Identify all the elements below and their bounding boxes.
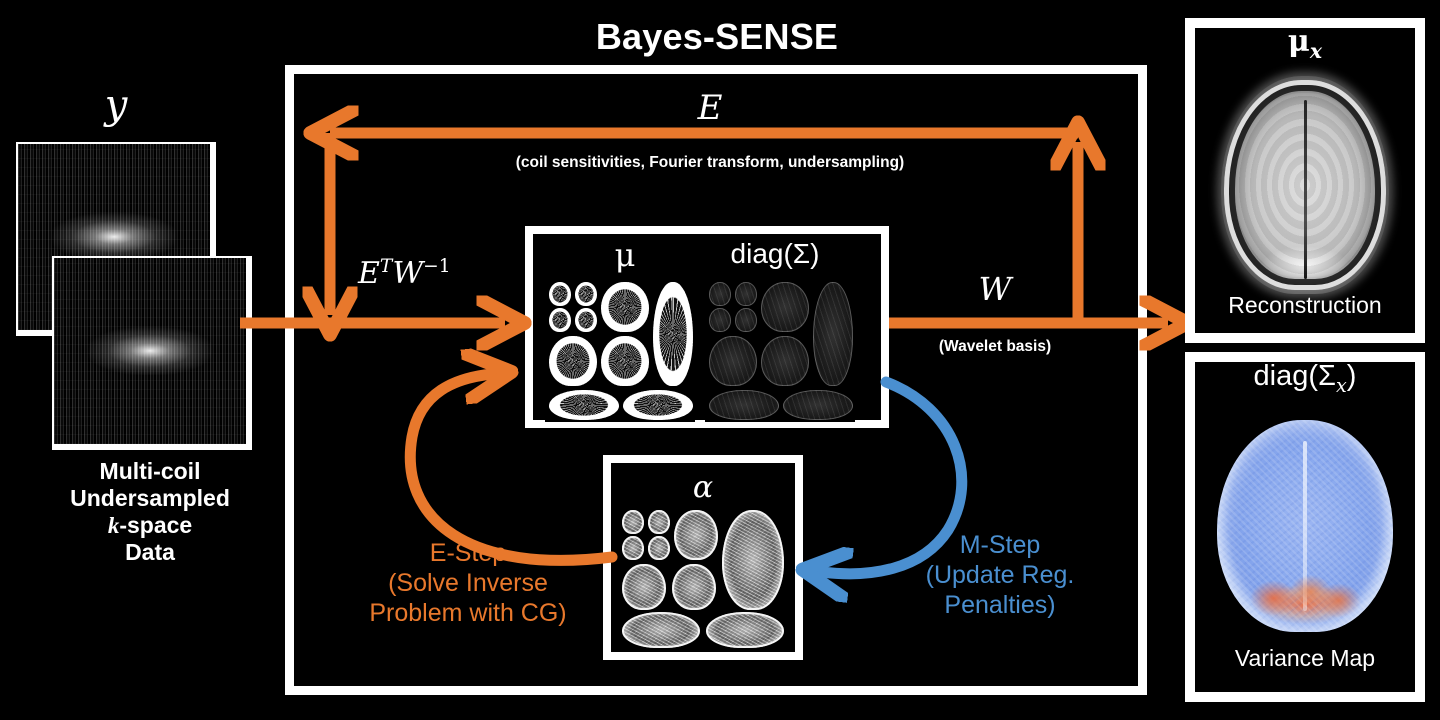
- figure-canvas: 𝑦 Multi-coil Undersampled k-space Data B…: [0, 0, 1440, 720]
- wavelet-speckle: [575, 308, 597, 332]
- wavelet-cell-alpha: [674, 510, 718, 560]
- kspace-center-glow: [89, 327, 212, 375]
- recon-symbol-mu: μ: [1288, 24, 1310, 59]
- wavelet-speckle: [549, 336, 597, 386]
- wavelet-cell-alpha: [648, 536, 670, 560]
- kspace-tile-front-frame: [52, 256, 252, 450]
- kspace-caption-k-italic: k: [108, 513, 120, 538]
- kspace-caption-line-1: Multi-coil: [24, 458, 276, 485]
- wavelet-speckle: [653, 282, 693, 386]
- wavelet-speckle: [549, 308, 571, 332]
- wavelet-cell-sigma: [735, 308, 757, 332]
- wavelet-cell-sigma: [761, 336, 809, 386]
- variance-symbol-prefix: diag(Σ: [1254, 360, 1336, 392]
- wavelet-cell-mu: [601, 336, 649, 386]
- wavelet-speckle: [735, 308, 757, 332]
- forward-operator-description: (coil sensitivities, Fourier transform, …: [430, 154, 990, 172]
- wavelet-speckle: [709, 282, 731, 306]
- wavelet-cell-alpha: [622, 536, 644, 560]
- wavelet-panel-sigma: [705, 278, 855, 422]
- wavelet-speckle: [549, 282, 571, 306]
- figure-title: Bayes-SENSE: [288, 16, 1146, 58]
- wavelet-speckle: [622, 564, 666, 610]
- adjoint-T: T: [380, 256, 392, 277]
- wavelet-cell-mu: [549, 308, 571, 332]
- wavelet-cell-mu: [549, 390, 619, 420]
- wavelet-cell-alpha: [706, 612, 784, 648]
- wavelet-speckle: [709, 308, 731, 332]
- wavelet-cell-mu: [623, 390, 693, 420]
- wavelet-cell-alpha: [622, 612, 700, 648]
- kspace-caption-line-3: k-space: [24, 512, 276, 539]
- wavelet-speckle: [761, 336, 809, 386]
- wavelet-cell-sigma: [709, 282, 731, 306]
- forward-operator-symbol: E: [640, 88, 780, 128]
- posterior-mean-label: μ: [590, 236, 660, 274]
- wavelet-cell-alpha: [722, 510, 784, 610]
- wavelet-operator-description: (Wavelet basis): [905, 338, 1085, 356]
- wavelet-cell-sigma: [761, 282, 809, 332]
- wavelet-cell-mu: [653, 282, 693, 386]
- output-variance-symbol: diag(Σx): [1195, 360, 1415, 397]
- e-step-line-1: E-Step: [338, 538, 598, 568]
- wavelet-speckle: [601, 282, 649, 332]
- m-step-line-2: (Update Reg.: [905, 560, 1095, 590]
- wavelet-cell-mu: [601, 282, 649, 332]
- wavelet-speckle: [623, 390, 693, 420]
- wavelet-cell-sigma: [735, 282, 757, 306]
- wavelet-cell-alpha: [622, 510, 644, 534]
- wavelet-speckle: [601, 336, 649, 386]
- e-step-label: E-Step (Solve Inverse Problem with CG): [338, 538, 598, 628]
- wavelet-panel-mu: [545, 278, 695, 422]
- wavelet-speckle: [674, 510, 718, 560]
- brain-variance-image: [1217, 420, 1393, 632]
- brain-reconstruction-image: [1221, 76, 1389, 294]
- wavelet-speckle: [622, 510, 644, 534]
- wavelet-cell-mu: [549, 336, 597, 386]
- wavelet-cell-alpha: [622, 564, 666, 610]
- wavelet-speckle: [672, 564, 716, 610]
- output-reconstruction-inner: [1195, 28, 1415, 333]
- wavelet-speckle: [648, 510, 670, 534]
- output-reconstruction-symbol: μx: [1215, 24, 1395, 63]
- variance-symbol-sub-x: x: [1336, 374, 1347, 397]
- wavelet-speckle: [813, 282, 853, 386]
- adjoint-operator-symbol: ETW−1: [358, 256, 451, 291]
- wavelet-speckle: [706, 612, 784, 648]
- kspace-symbol-y: 𝑦: [86, 82, 146, 128]
- wavelet-cell-alpha: [648, 510, 670, 534]
- variance-symbol-suffix: ): [1347, 360, 1357, 392]
- output-reconstruction-caption: Reconstruction: [1195, 292, 1415, 319]
- wavelet-operator-symbol: W: [950, 270, 1040, 308]
- wavelet-speckle: [761, 282, 809, 332]
- wavelet-cell-sigma: [813, 282, 853, 386]
- wavelet-cell-mu: [575, 308, 597, 332]
- m-step-label: M-Step (Update Reg. Penalties): [905, 530, 1095, 620]
- wavelet-cell-sigma: [783, 390, 853, 420]
- kspace-caption-space-rest: -space: [119, 512, 192, 538]
- wavelet-speckle: [575, 282, 597, 306]
- wavelet-cell-alpha: [672, 564, 716, 610]
- wavelet-speckle: [722, 510, 784, 610]
- wavelet-speckle: [622, 612, 700, 648]
- wavelet-speckle: [622, 536, 644, 560]
- wavelet-cell-sigma: [709, 336, 757, 386]
- recon-symbol-sub-x: x: [1310, 39, 1322, 63]
- kspace-caption-line-4: Data: [24, 539, 276, 566]
- wavelet-speckle: [783, 390, 853, 420]
- wavelet-speckle: [709, 336, 757, 386]
- adjoint-E: E: [358, 256, 380, 291]
- brain-skull-rim: [1224, 80, 1385, 289]
- wavelet-speckle: [709, 390, 779, 420]
- adjoint-inv: −1: [423, 256, 450, 277]
- kspace-center-glow: [53, 213, 176, 261]
- e-step-line-3: Problem with CG): [338, 598, 598, 628]
- output-variance-inner: [1195, 362, 1415, 692]
- wavelet-cell-mu: [549, 282, 571, 306]
- m-step-line-3: Penalties): [905, 590, 1095, 620]
- alpha-label: α: [668, 470, 738, 505]
- wavelet-speckle: [549, 390, 619, 420]
- wavelet-speckle: [648, 536, 670, 560]
- m-step-line-1: M-Step: [905, 530, 1095, 560]
- variance-edge-glow: [1217, 420, 1393, 632]
- wavelet-speckle: [735, 282, 757, 306]
- wavelet-cell-sigma: [709, 308, 731, 332]
- output-variance-caption: Variance Map: [1195, 645, 1415, 672]
- kspace-caption: Multi-coil Undersampled k-space Data: [24, 458, 276, 567]
- wavelet-panel-alpha: [618, 508, 788, 650]
- wavelet-cell-mu: [575, 282, 597, 306]
- wavelet-cell-sigma: [709, 390, 779, 420]
- adjoint-W: W: [392, 256, 423, 291]
- kspace-tile-front: [54, 258, 246, 444]
- posterior-cov-label: diag(Σ): [700, 238, 850, 270]
- kspace-caption-line-2: Undersampled: [24, 485, 276, 512]
- e-step-line-2: (Solve Inverse: [338, 568, 598, 598]
